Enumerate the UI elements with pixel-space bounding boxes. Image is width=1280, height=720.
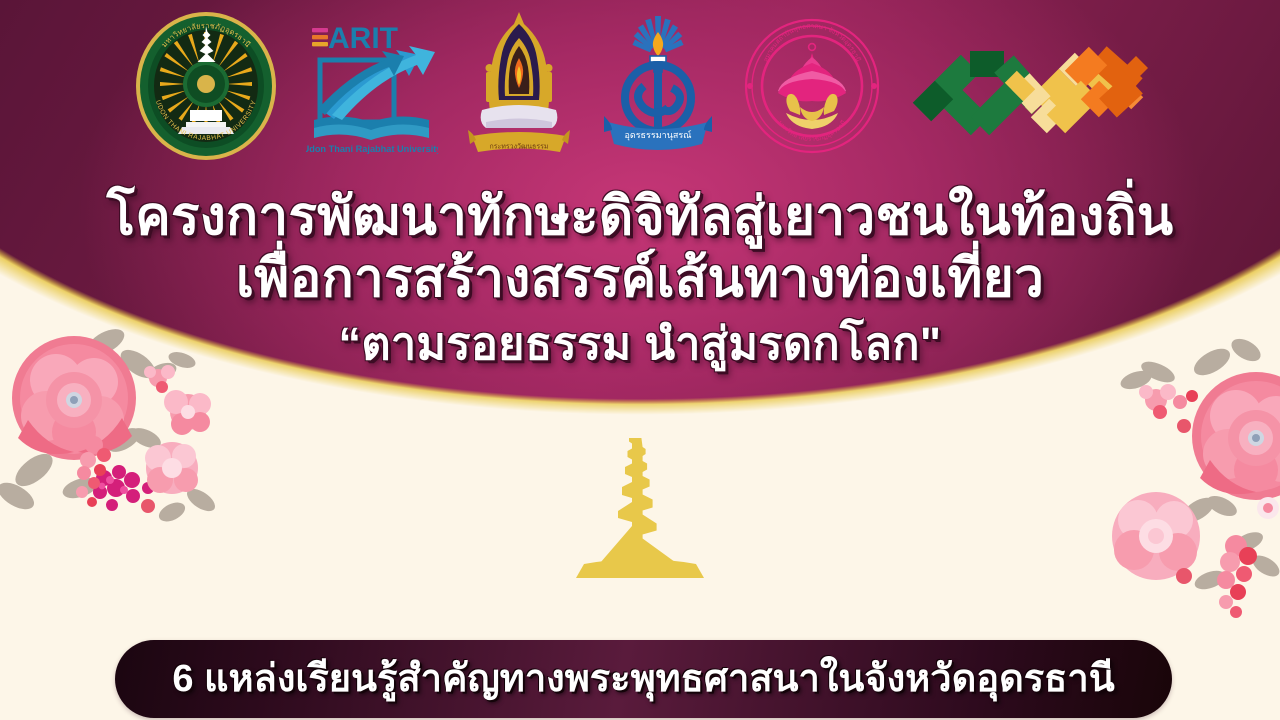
ministry-of-culture-emblem-icon: กระทรวงวัฒนธรรม — [464, 10, 574, 167]
arit-logo-icon: ARIT Udon Thani Rajabhat University — [306, 16, 438, 161]
mhesi-ribbon-logo-icon — [908, 26, 1148, 151]
title-line-2: เพื่อการสร้างสรรค์เส้นทางท่องเที่ยว — [0, 248, 1280, 310]
svg-text:ARIT: ARIT — [328, 22, 398, 55]
pagoda-silhouette — [558, 438, 722, 578]
bottom-banner: 6 แหล่งเรียนรู้สำคัญทางพระพุทธศาสนาในจัง… — [115, 640, 1172, 718]
poster-title-block: โครงการพัฒนาทักษะดิจิทัลสู่เยาวชนในท้องถ… — [0, 186, 1280, 374]
svg-text:Udon Thani Rajabhat University: Udon Thani Rajabhat University — [306, 144, 438, 154]
udon-thani-school-emblem-icon: อุดรธรรมานุสรณ์ — [600, 12, 716, 165]
title-line-1: โครงการพัฒนาทักษะดิจิทัลสู่เยาวชนในท้องถ… — [0, 186, 1280, 248]
title-line-3-slogan: “ตามรอยธรรม นำสู่มรดกโลก" — [0, 314, 1280, 374]
poster-canvas: มหาวิทยาลัยราชภัฏอุดรธานี UDON THANI RAJ… — [0, 0, 1280, 720]
buddhist-association-lotus-emblem-icon: สมาคมสถาบันพุทธศาสนา จังหวัดอุดรธานี มหา… — [742, 15, 882, 162]
partner-logos-row: มหาวิทยาลัยราชภัฏอุดรธานี UDON THANI RAJ… — [0, 8, 1280, 168]
svg-text:อุดรธรรมานุสรณ์: อุดรธรรมานุสรณ์ — [624, 129, 691, 141]
udon-thani-rajabhat-university-seal-icon: มหาวิทยาลัยราชภัฏอุดรธานี UDON THANI RAJ… — [132, 10, 280, 167]
svg-text:กระทรวงวัฒนธรรม: กระทรวงวัฒนธรรม — [490, 142, 549, 150]
bottom-banner-text: 6 แหล่งเรียนรู้สำคัญทางพระพุทธศาสนาในจัง… — [172, 658, 1114, 700]
